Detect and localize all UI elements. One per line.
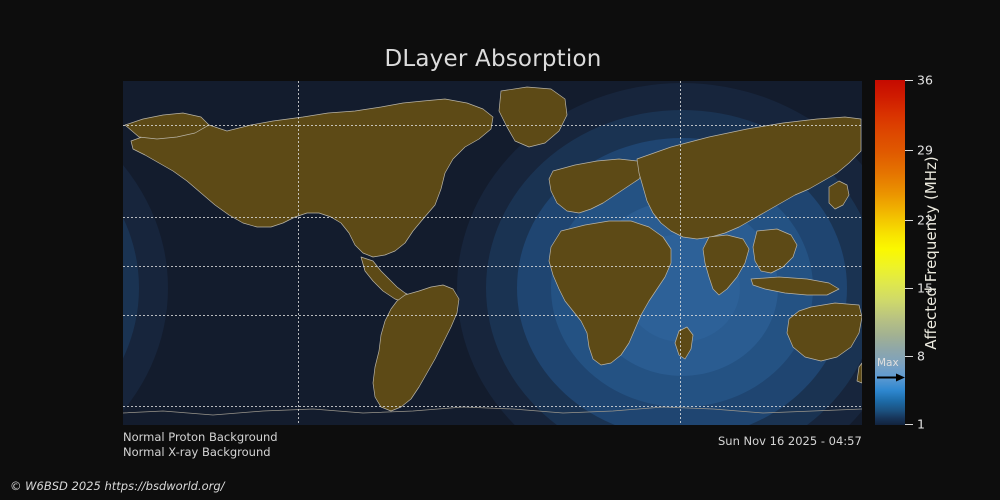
- land-australia: [787, 303, 862, 361]
- xray-background-status: Normal X-ray Background: [123, 445, 278, 460]
- colorbar-tick-mark: [905, 150, 913, 151]
- land-indonesia: [751, 277, 839, 295]
- land-new-zealand: [857, 363, 862, 383]
- land-europe: [549, 159, 645, 213]
- colorbar-tick-mark: [905, 424, 913, 425]
- land-asia: [637, 117, 861, 239]
- max-marker-label: Max: [877, 358, 899, 369]
- colorbar-axis-label: Affected Frequency (MHz): [921, 80, 941, 425]
- land-africa: [549, 221, 671, 365]
- proton-background-status: Normal Proton Background: [123, 430, 278, 445]
- land-greenland: [499, 87, 567, 147]
- colorbar-tick-mark: [905, 220, 913, 221]
- colorbar-tick-mark: [905, 356, 913, 357]
- status-background-info: Normal Proton Background Normal X-ray Ba…: [123, 430, 278, 460]
- coastline-layer: [123, 81, 862, 425]
- footer-credit: © W6BSD 2025 https://bsdworld.org/: [10, 479, 225, 493]
- max-marker: Max: [877, 358, 913, 384]
- coastline-antarctica: [123, 407, 862, 415]
- timestamp: Sun Nov 16 2025 - 04:57: [718, 434, 862, 448]
- land-south-america: [373, 285, 459, 411]
- world-map[interactable]: [123, 81, 862, 425]
- colorbar-axis-label-text: Affected Frequency (MHz): [922, 156, 940, 350]
- dlayer-absorption-page: DLayer Absorption: [0, 0, 1000, 500]
- right-arrow-icon: [877, 373, 905, 382]
- page-title: DLayer Absorption: [0, 46, 986, 72]
- land-japan: [829, 181, 849, 209]
- land-india: [703, 235, 749, 295]
- colorbar-tick-mark: [905, 80, 913, 81]
- land-madagascar: [675, 327, 693, 359]
- colorbar-tick-mark: [905, 288, 913, 289]
- land-southeast-asia: [753, 229, 797, 273]
